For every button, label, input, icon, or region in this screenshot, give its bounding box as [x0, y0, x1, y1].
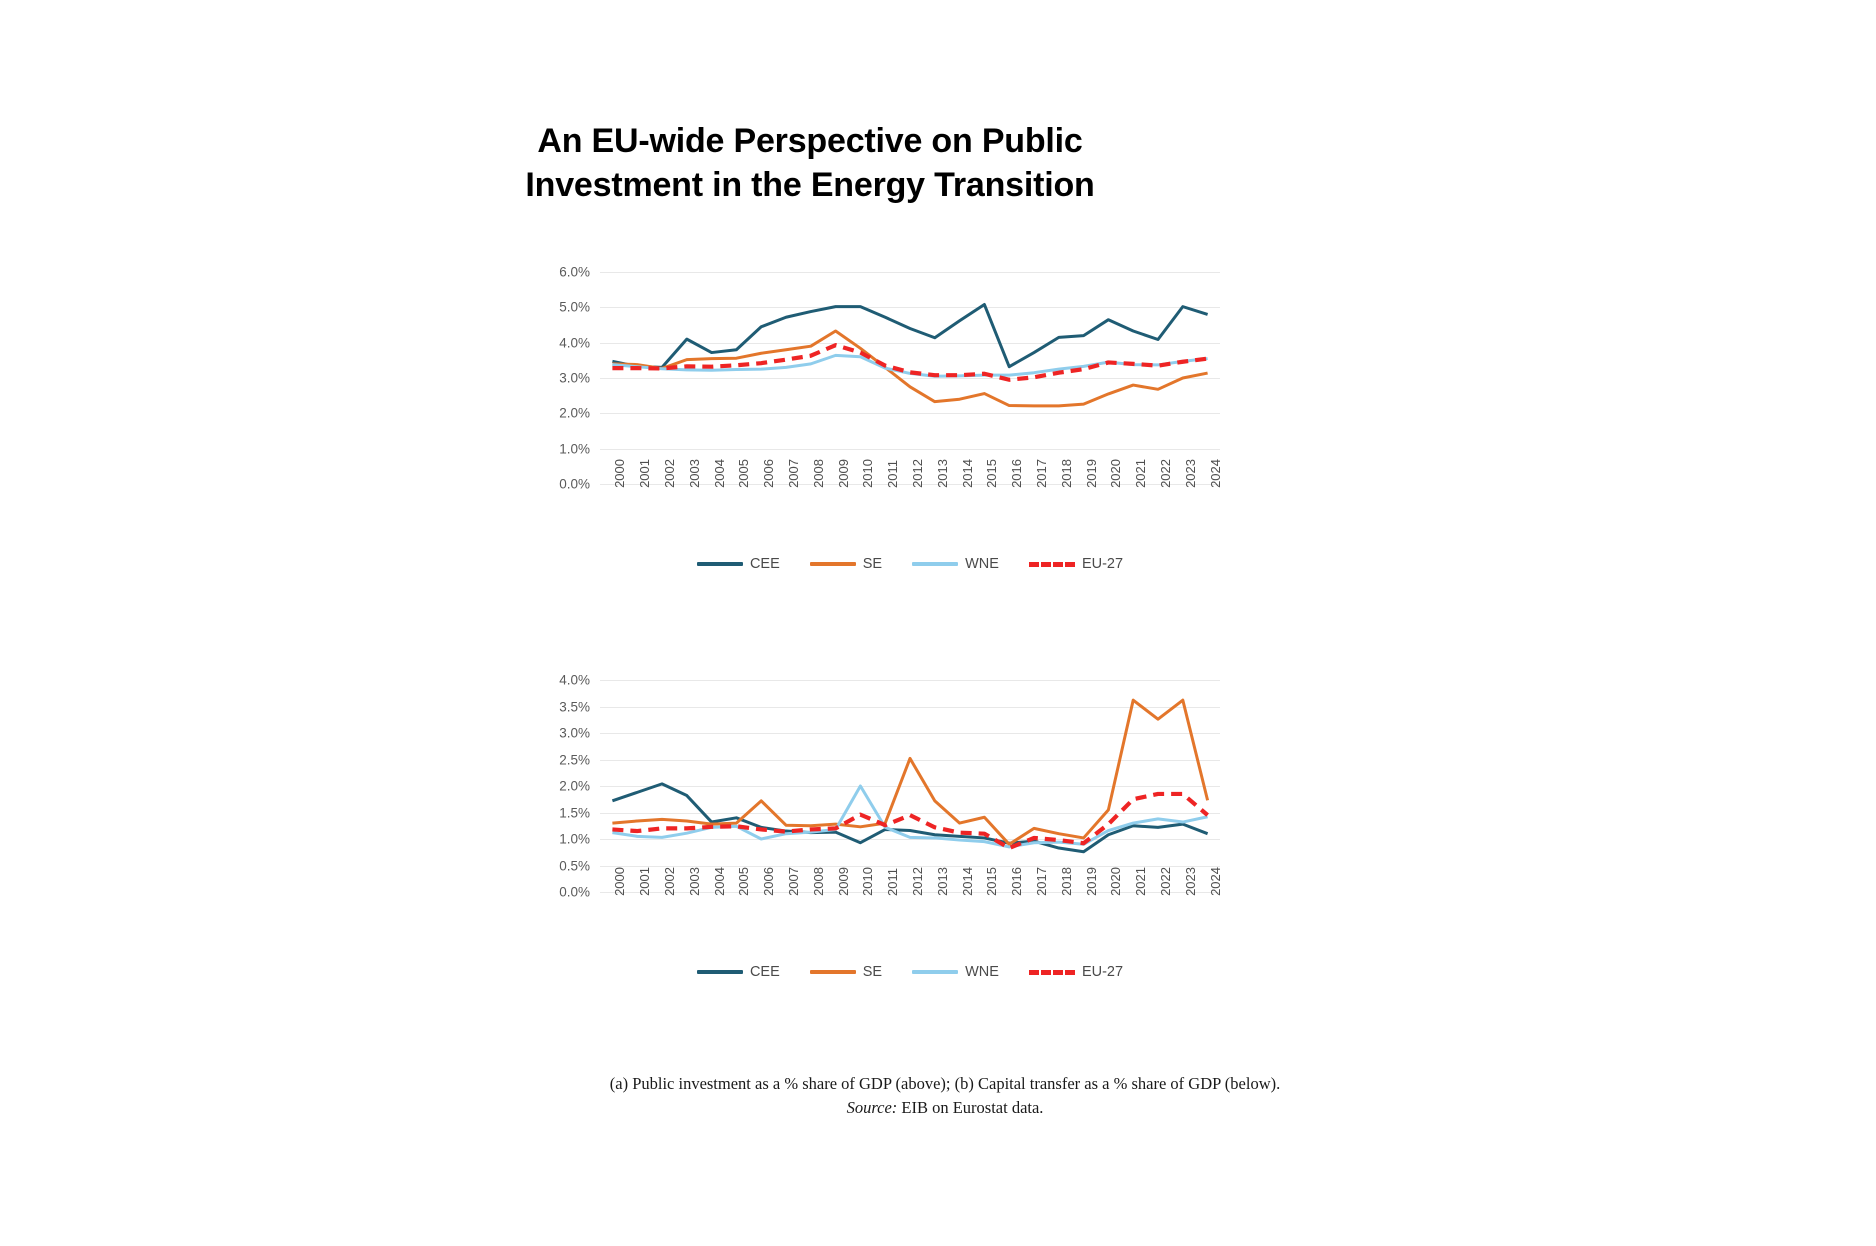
y-axis-tick-label: 0.0% — [559, 477, 590, 492]
y-axis-tick-label: 4.0% — [559, 335, 590, 350]
y-axis-tick-label: 3.0% — [559, 371, 590, 386]
legend-swatch-eu-27 — [1029, 970, 1075, 975]
legend-item-wne[interactable]: WNE — [912, 556, 999, 572]
legend-item-eu-27[interactable]: EU-27 — [1029, 964, 1123, 980]
series-line-eu-27 — [612, 794, 1207, 848]
x-axis-a: 2000200120022003200420052006200720082009… — [600, 484, 1220, 550]
legend-label-cee: CEE — [750, 556, 780, 572]
series-line-se — [612, 700, 1207, 844]
figure-caption: (a) Public investment as a % share of GD… — [590, 1072, 1300, 1120]
legend-swatch-se — [810, 970, 856, 974]
figure-page: An EU-wide Perspective on Public Investm… — [0, 0, 1876, 1246]
legend-label-wne: WNE — [965, 964, 999, 980]
y-axis-tick-label: 3.0% — [559, 726, 590, 741]
y-axis-tick-label: 4.0% — [559, 673, 590, 688]
legend-label-se: SE — [863, 556, 882, 572]
x-axis-b: 2000200120022003200420052006200720082009… — [600, 892, 1220, 958]
legend-swatch-wne — [912, 970, 958, 974]
series-layer-b — [600, 680, 1220, 892]
y-axis-tick-label: 3.5% — [559, 699, 590, 714]
title-line-2: Investment in the Energy Transition — [470, 164, 1150, 208]
legend-item-se[interactable]: SE — [810, 556, 882, 572]
series-line-se — [612, 331, 1207, 406]
legend-label-wne: WNE — [965, 556, 999, 572]
page-title: An EU-wide Perspective on Public Investm… — [470, 120, 1150, 207]
plot-area-b: 0.0%0.5%1.0%1.5%2.0%2.5%3.0%3.5%4.0% — [600, 680, 1220, 892]
legend-item-wne[interactable]: WNE — [912, 964, 999, 980]
legend-swatch-cee — [697, 562, 743, 566]
y-axis-tick-label: 1.0% — [559, 832, 590, 847]
series-layer-a — [600, 272, 1220, 484]
y-axis-tick-label: 1.5% — [559, 805, 590, 820]
legend-label-eu-27: EU-27 — [1082, 556, 1123, 572]
legend-swatch-cee — [697, 970, 743, 974]
legend-a: CEESEWNEEU-27 — [600, 556, 1220, 572]
y-axis-tick-label: 2.0% — [559, 779, 590, 794]
caption-part-2: EIB on Eurostat data. — [897, 1098, 1043, 1117]
y-axis-tick-label: 1.0% — [559, 441, 590, 456]
y-axis-tick-label: 6.0% — [559, 265, 590, 280]
title-line-1: An EU-wide Perspective on Public — [470, 120, 1150, 164]
legend-item-eu-27[interactable]: EU-27 — [1029, 556, 1123, 572]
legend-item-cee[interactable]: CEE — [697, 964, 780, 980]
chart-public-investment: 0.0%1.0%2.0%3.0%4.0%5.0%6.0% 20002001200… — [520, 272, 1220, 617]
y-axis-tick-label: 5.0% — [559, 300, 590, 315]
legend-label-eu-27: EU-27 — [1082, 964, 1123, 980]
legend-item-cee[interactable]: CEE — [697, 556, 780, 572]
legend-item-se[interactable]: SE — [810, 964, 882, 980]
plot-area-a: 0.0%1.0%2.0%3.0%4.0%5.0%6.0% — [600, 272, 1220, 484]
y-axis-tick-label: 0.0% — [559, 885, 590, 900]
legend-swatch-se — [810, 562, 856, 566]
y-axis-tick-label: 0.5% — [559, 858, 590, 873]
legend-label-se: SE — [863, 964, 882, 980]
caption-source-label: Source: — [847, 1098, 898, 1117]
series-line-cee — [612, 784, 1207, 852]
y-axis-tick-label: 2.5% — [559, 752, 590, 767]
legend-swatch-eu-27 — [1029, 562, 1075, 567]
legend-b: CEESEWNEEU-27 — [600, 964, 1220, 980]
caption-part-1: (a) Public investment as a % share of GD… — [610, 1074, 1280, 1093]
legend-swatch-wne — [912, 562, 958, 566]
legend-label-cee: CEE — [750, 964, 780, 980]
y-axis-tick-label: 2.0% — [559, 406, 590, 421]
chart-capital-transfer: 0.0%0.5%1.0%1.5%2.0%2.5%3.0%3.5%4.0% 200… — [520, 680, 1220, 990]
